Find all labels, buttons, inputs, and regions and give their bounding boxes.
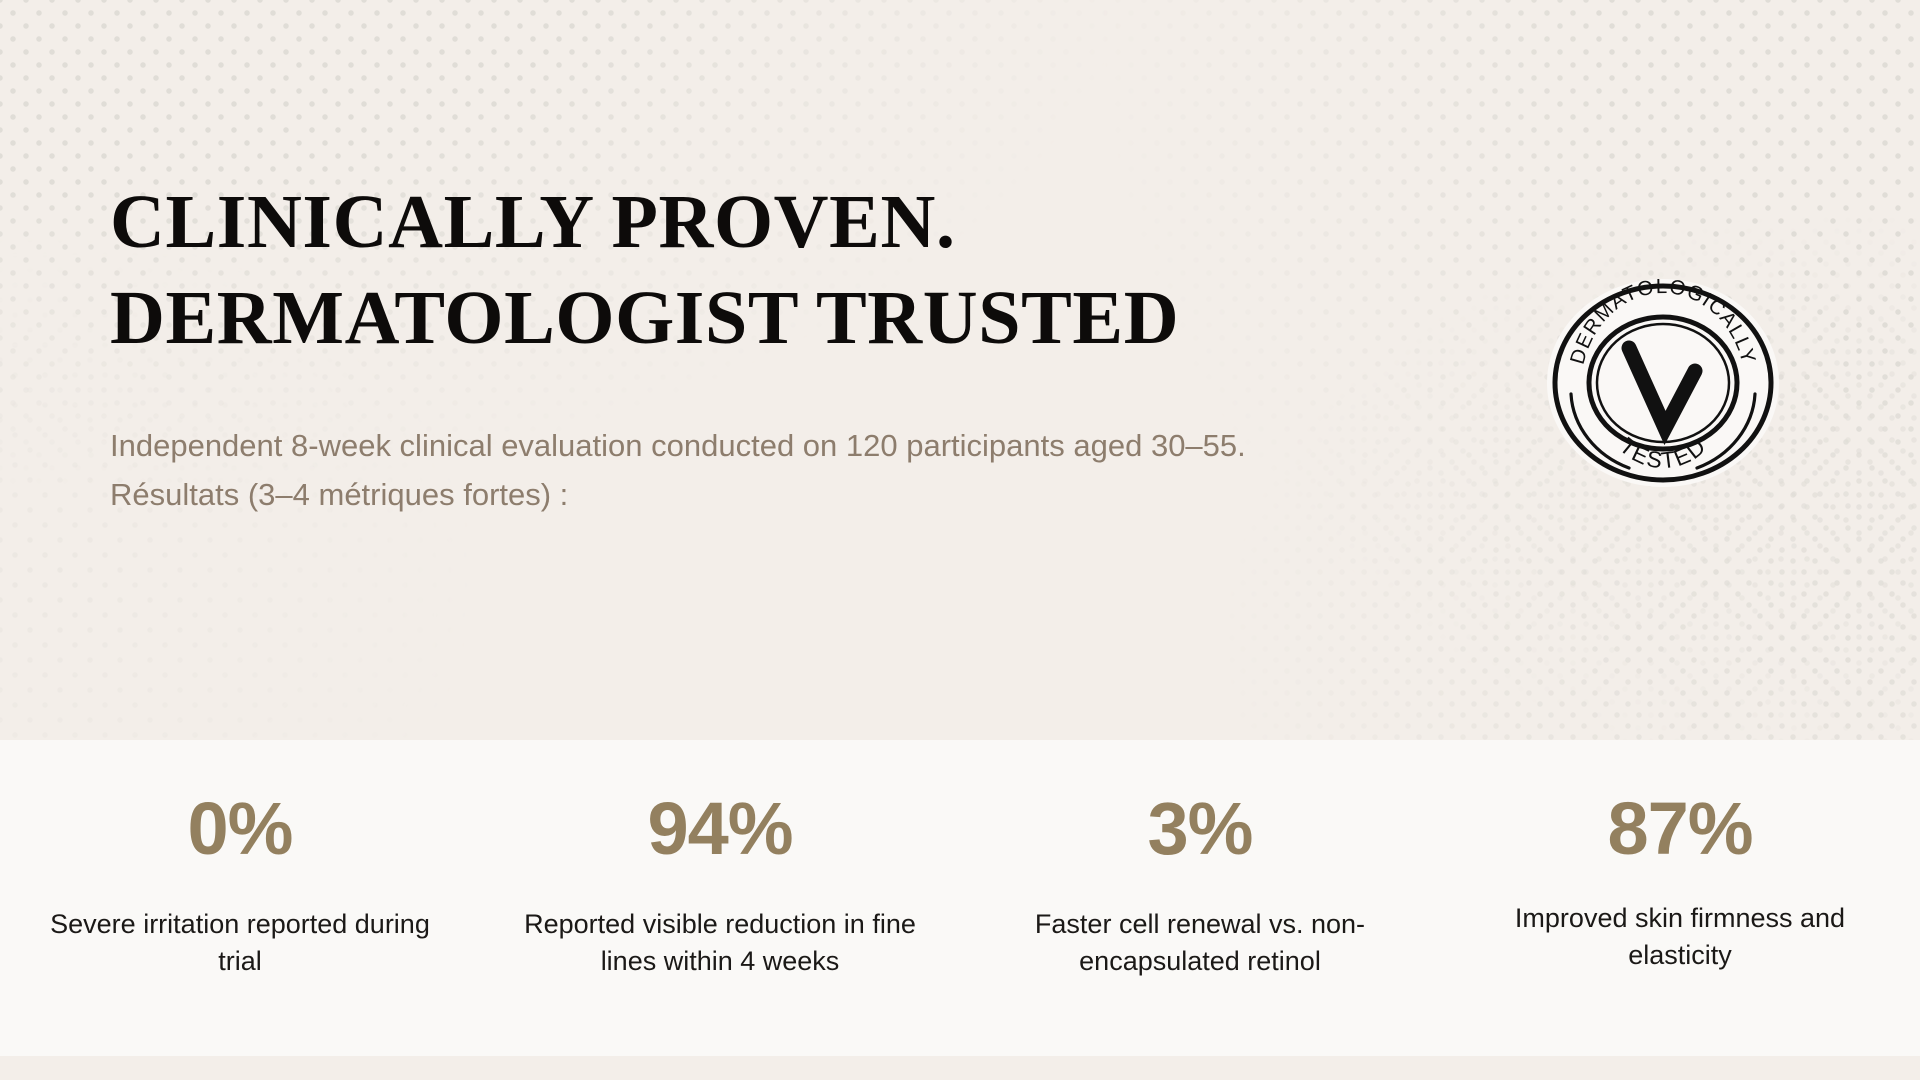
stat-caption: Reported visible reduction in fine lines… xyxy=(502,906,938,981)
stat-value: 94% xyxy=(502,792,938,866)
stat-card: 3% Faster cell renewal vs. non-encapsula… xyxy=(960,740,1440,981)
stat-value: 0% xyxy=(22,792,458,866)
hero-section: CLINICALLY PROVEN. DERMATOLOGIST TRUSTED… xyxy=(0,0,1920,740)
stat-value: 87% xyxy=(1462,792,1898,866)
stats-section: مستقل mostaql.com 0% Severe irritation r… xyxy=(0,740,1920,1056)
stat-card: 87% Improved skin firmness and elasticit… xyxy=(1440,740,1920,975)
page-title: CLINICALLY PROVEN. DERMATOLOGIST TRUSTED xyxy=(110,175,1470,367)
stat-value: 3% xyxy=(982,792,1418,866)
bottom-band xyxy=(0,1056,1920,1080)
stat-caption: Improved skin firmness and elasticity xyxy=(1462,900,1898,975)
stat-caption: Severe irritation reported during trial xyxy=(22,906,458,981)
hero-subtitle: Independent 8-week clinical evaluation c… xyxy=(110,422,1250,520)
stat-card: 94% Reported visible reduction in fine l… xyxy=(480,740,960,981)
stat-caption: Faster cell renewal vs. non-encapsulated… xyxy=(982,906,1418,981)
dermatologically-tested-seal: DERMATOLOGICALLY TESTED xyxy=(1543,276,1783,491)
stat-card: 0% Severe irritation reported during tri… xyxy=(0,740,480,981)
infographic-slide: CLINICALLY PROVEN. DERMATOLOGIST TRUSTED… xyxy=(0,0,1920,1080)
